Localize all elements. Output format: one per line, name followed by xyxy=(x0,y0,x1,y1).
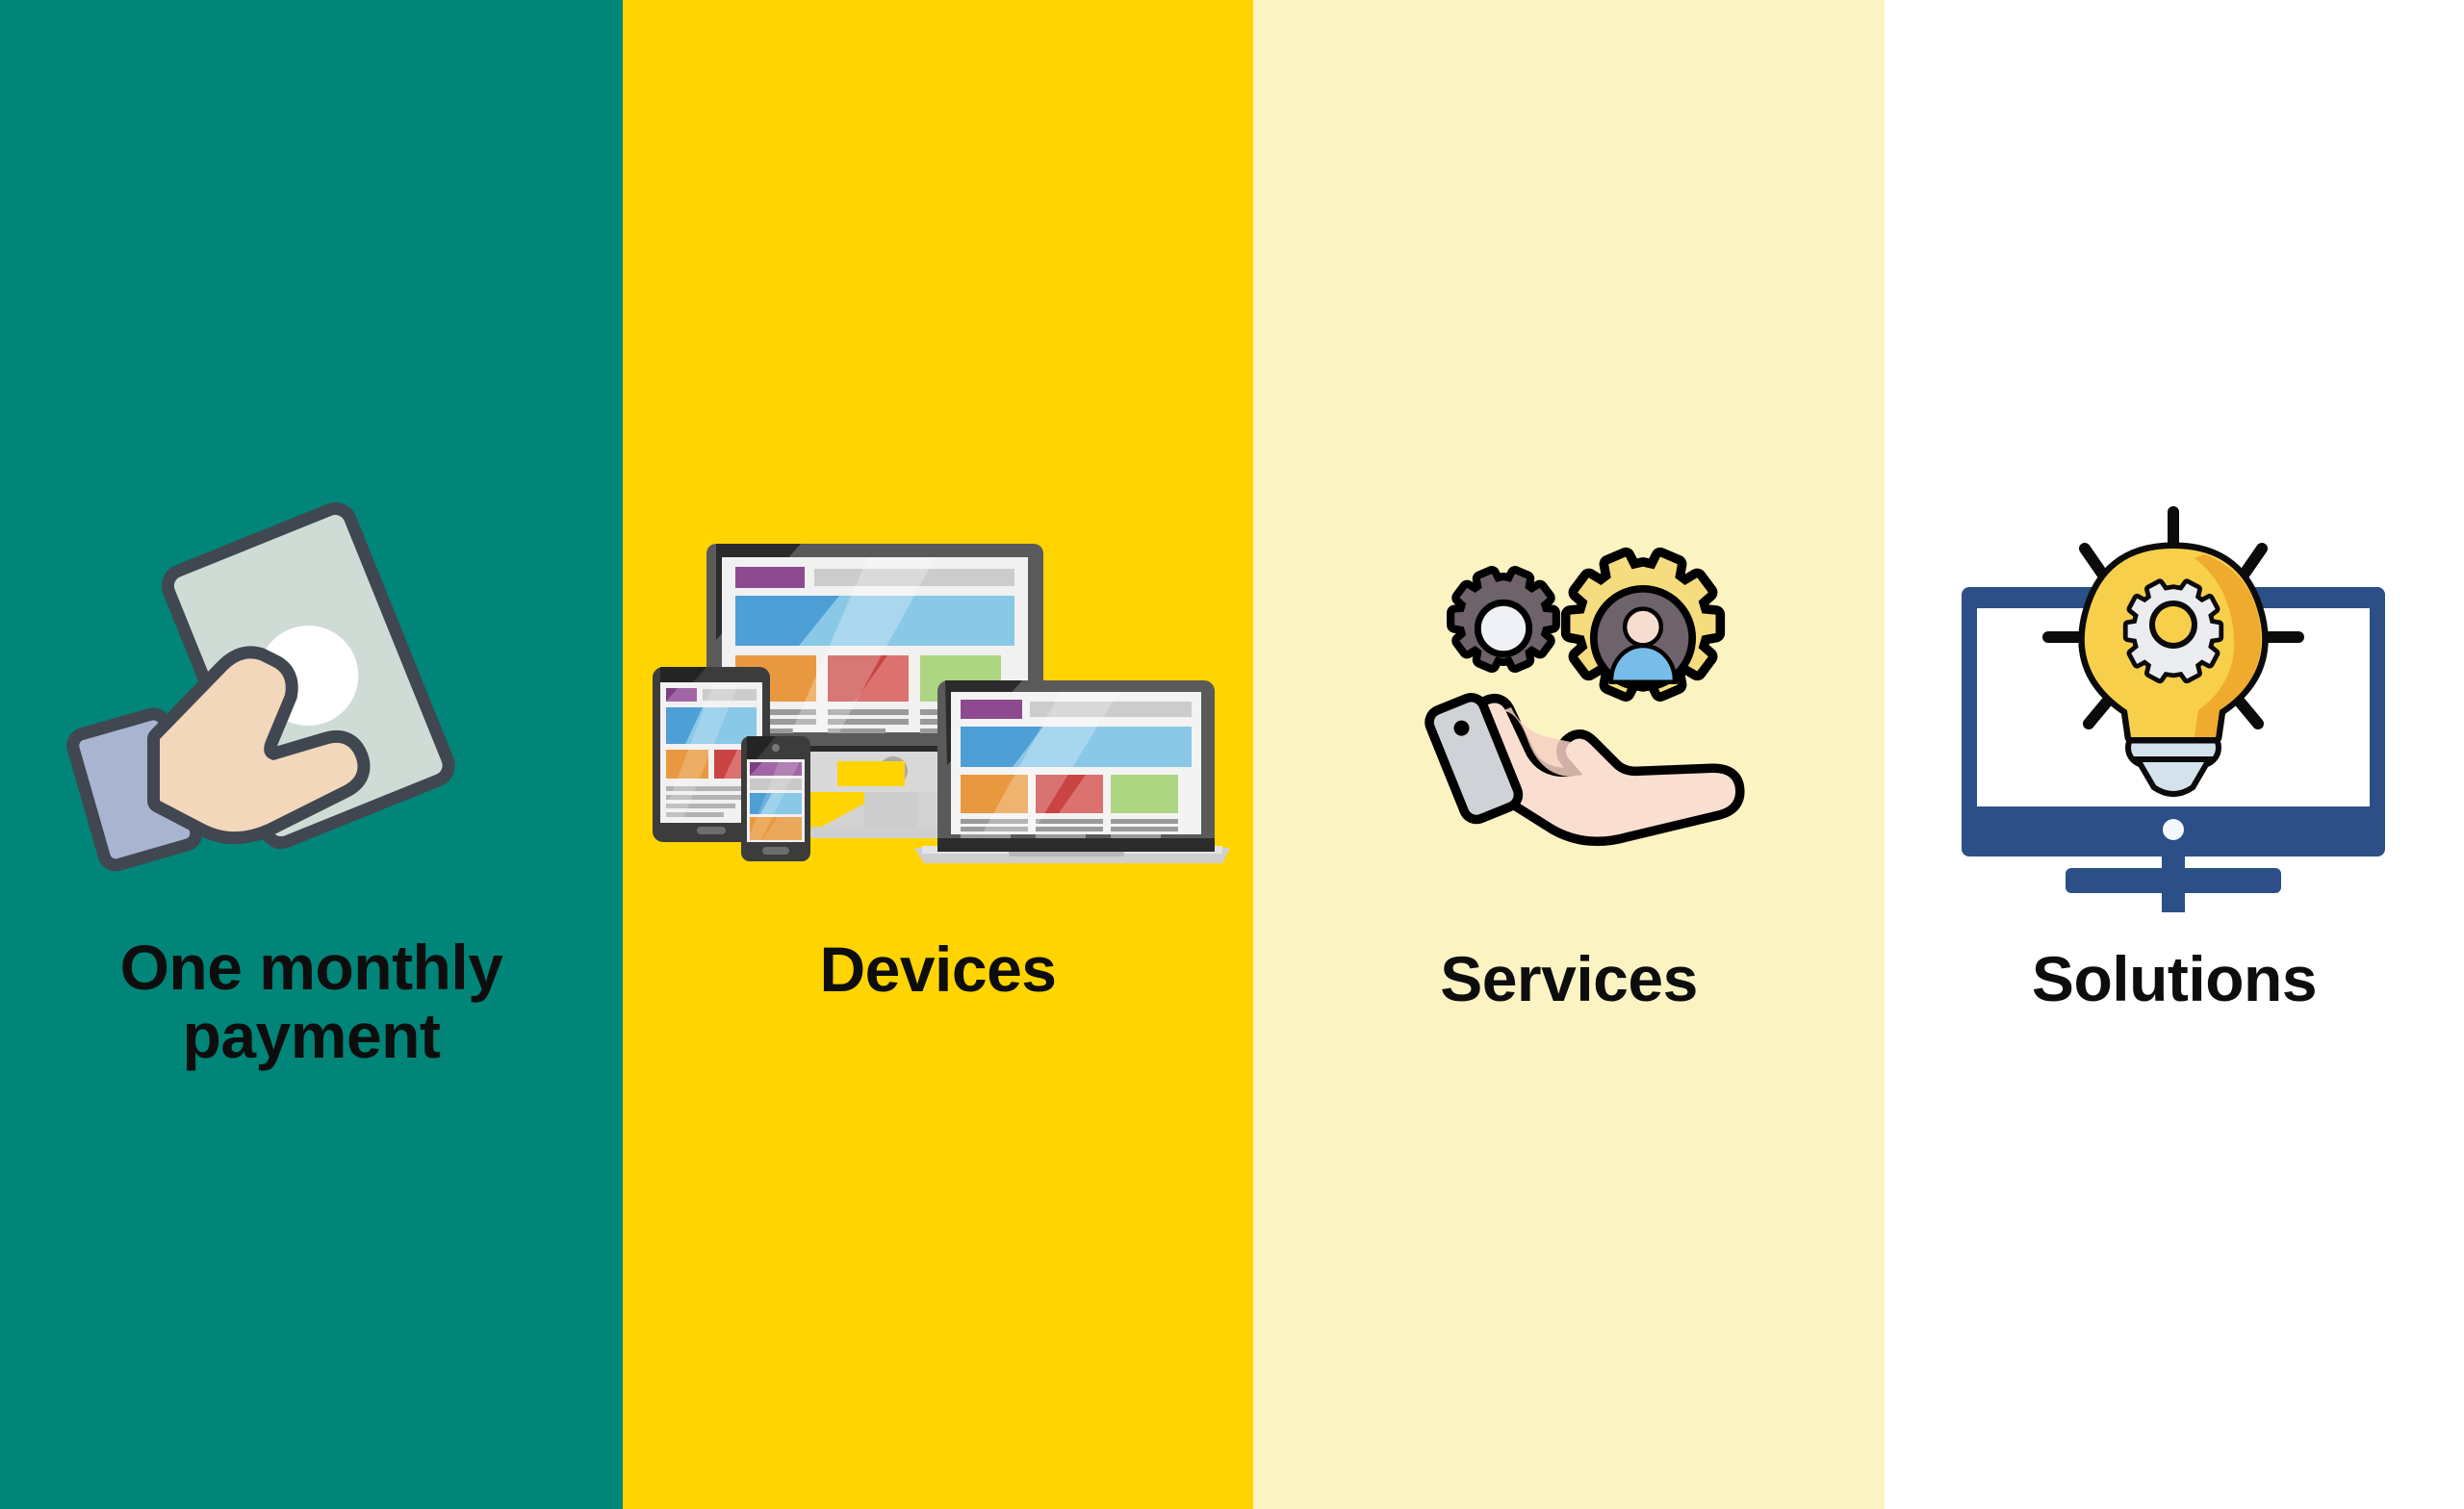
column-services: Services xyxy=(1253,0,1885,1509)
column-label-payment: One monthly payment xyxy=(0,934,623,1071)
hand-holding-money-icon xyxy=(67,481,472,866)
monitor-lightbulb-gear-icon xyxy=(1942,491,2404,905)
column-label-devices: Devices xyxy=(623,935,1253,1004)
column-label-services: Services xyxy=(1253,945,1885,1013)
column-devices: Devices xyxy=(623,0,1253,1509)
label-line-2: payment xyxy=(0,1002,623,1070)
benefits-banner: One monthly payment xyxy=(0,0,2464,1509)
responsive-devices-icon xyxy=(647,524,1234,881)
column-label-solutions: Solutions xyxy=(1885,945,2464,1013)
column-payment: One monthly payment xyxy=(0,0,623,1509)
label-line-1: One monthly xyxy=(0,934,623,1002)
hand-gears-user-icon xyxy=(1407,515,1773,885)
column-solutions: Solutions xyxy=(1885,0,2464,1509)
